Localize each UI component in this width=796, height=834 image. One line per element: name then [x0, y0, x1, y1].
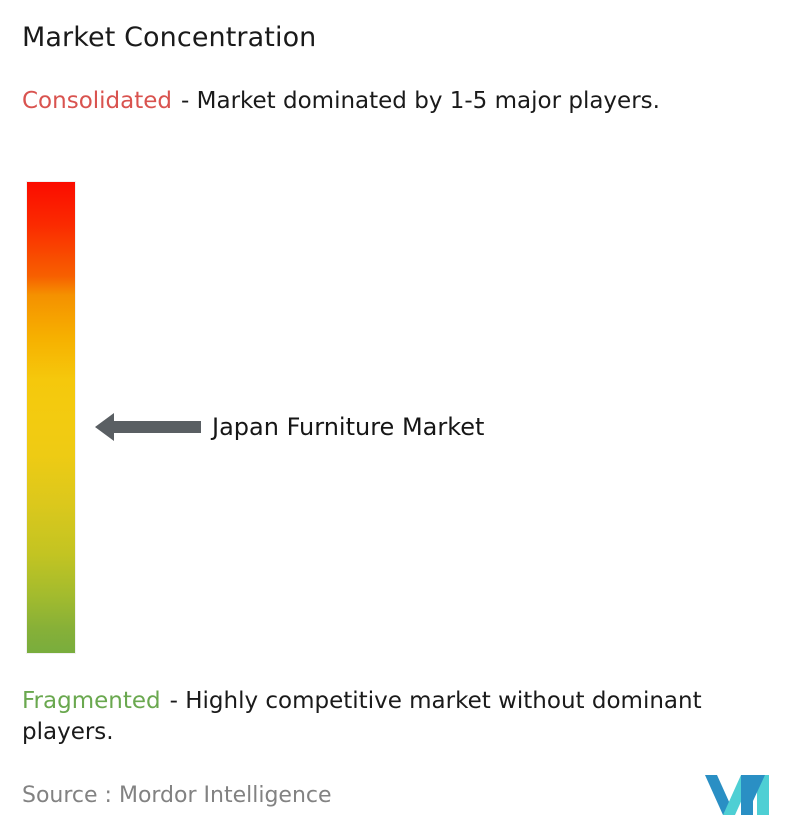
legend-term-fragmented: Fragmented: [22, 688, 161, 714]
legend-definition-consolidated: - Market dominated by 1-5 major players.: [181, 88, 660, 114]
page-title: Market Concentration: [22, 22, 316, 54]
legend-consolidated: Consolidated- Market dominated by 1-5 ma…: [22, 86, 778, 117]
concentration-gradient-scale: [27, 182, 75, 653]
market-marker-label: Japan Furniture Market: [212, 412, 484, 442]
market-concentration-chart: Market Concentration Consolidated- Marke…: [0, 0, 796, 834]
arrow-left-icon: [95, 412, 201, 442]
mordor-intelligence-logo: [705, 771, 773, 819]
legend-fragmented: Fragmented- Highly competitive market wi…: [22, 686, 784, 748]
source-attribution: Source : Mordor Intelligence: [22, 782, 332, 810]
legend-term-consolidated: Consolidated: [22, 88, 172, 114]
